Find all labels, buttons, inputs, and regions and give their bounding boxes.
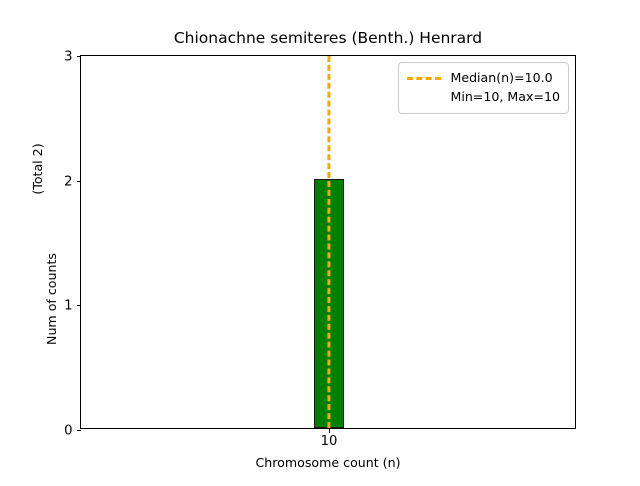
plot-area: 0123 10 Median(n)=10.0 Min=10, Max=10 [80, 55, 576, 429]
y-tick-label: 2 [64, 175, 72, 188]
legend-dashed-line-icon [407, 77, 441, 80]
y-tick: 2 [77, 181, 82, 182]
y-tick-label: 3 [64, 50, 72, 63]
y-tick-label: 1 [64, 300, 72, 313]
y-tick: 3 [77, 56, 82, 57]
legend-label-minmax: Min=10, Max=10 [450, 91, 560, 104]
y-tick: 0 [77, 430, 82, 431]
legend-item: Min=10, Max=10 [407, 88, 560, 107]
y-tick-label: 0 [64, 424, 72, 437]
legend-label-median: Median(n)=10.0 [450, 72, 552, 85]
x-axis-label: Chromosome count (n) [80, 455, 576, 470]
x-tick-label: 10 [321, 435, 338, 448]
legend: Median(n)=10.0 Min=10, Max=10 [398, 62, 569, 114]
legend-item: Median(n)=10.0 [407, 69, 560, 88]
y-axis-label-rotated: (Total 2)Num of counts [30, 55, 64, 429]
y-tick: 1 [77, 305, 82, 306]
median-line [327, 56, 330, 428]
chart-title: Chionachne semiteres (Benth.) Henrard [80, 29, 576, 47]
chart-figure: Chionachne semiteres (Benth.) Henrard (T… [0, 0, 640, 480]
y-axis-label-line1: Num of counts [44, 112, 60, 486]
legend-blank-swatch [407, 96, 441, 99]
x-tick [329, 428, 330, 433]
